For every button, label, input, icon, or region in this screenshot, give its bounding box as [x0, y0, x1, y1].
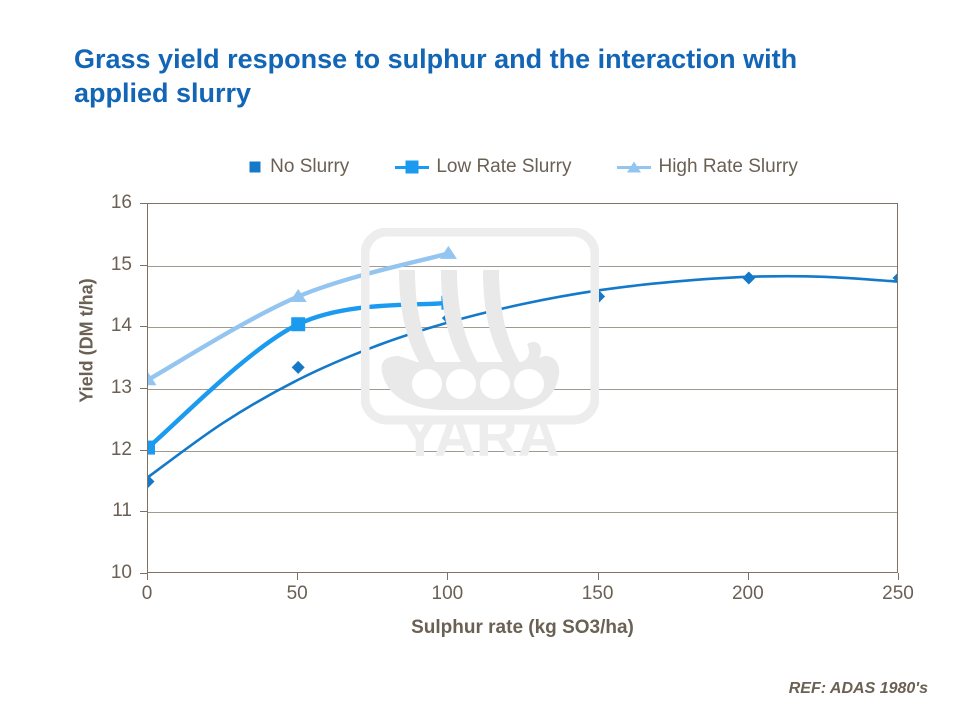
reference-note: REF: ADAS 1980's: [789, 680, 928, 698]
slide-canvas: Grass yield response to sulphur and the …: [0, 0, 960, 720]
x-tick-label: 50: [262, 584, 332, 603]
x-tick-mark: [598, 573, 599, 580]
y-tick-mark: [140, 203, 147, 204]
x-tick-label: 0: [112, 584, 182, 603]
legend-label-no-slurry: No Slurry: [270, 156, 349, 178]
diamond-marker-icon: [247, 159, 263, 175]
data-point-marker: [292, 361, 305, 374]
y-tick-mark: [140, 450, 147, 451]
triangle-marker-icon: [617, 159, 651, 175]
y-tick-mark: [140, 265, 147, 266]
plot-series-layer: [148, 204, 898, 573]
data-point-marker: [291, 317, 305, 331]
data-point-marker: [440, 246, 457, 259]
legend-item-high-rate-slurry[interactable]: High Rate Slurry: [617, 156, 797, 178]
series-line-high-rate-slurry: [148, 253, 448, 379]
series-line-no-slurry: [148, 276, 898, 477]
y-tick-mark: [140, 388, 147, 389]
y-axis-title: Yield (DM t/ha): [77, 241, 98, 441]
legend-item-low-rate-slurry[interactable]: Low Rate Slurry: [395, 156, 571, 178]
legend-label-low-rate-slurry: Low Rate Slurry: [436, 156, 571, 178]
x-tick-label: 250: [863, 584, 933, 603]
x-tick-label: 100: [412, 584, 482, 603]
x-tick-mark: [447, 573, 448, 580]
y-tick-label: 10: [90, 563, 132, 582]
square-marker-icon: [395, 159, 429, 175]
y-tick-mark: [140, 573, 147, 574]
x-tick-mark: [748, 573, 749, 580]
data-point-marker: [148, 475, 155, 488]
x-tick-label: 150: [563, 584, 633, 603]
x-tick-mark: [898, 573, 899, 580]
x-tick-mark: [297, 573, 298, 580]
data-point-marker: [742, 272, 755, 285]
legend-label-high-rate-slurry: High Rate Slurry: [658, 156, 797, 178]
x-tick-label: 200: [713, 584, 783, 603]
x-axis-title: Sulphur rate (kg SO3/ha): [147, 617, 898, 639]
legend-item-no-slurry[interactable]: No Slurry: [247, 156, 349, 178]
y-tick-mark: [140, 511, 147, 512]
data-point-marker: [148, 441, 155, 455]
page-title: Grass yield response to sulphur and the …: [74, 42, 894, 110]
y-tick-label: 11: [90, 501, 132, 520]
data-point-marker: [441, 296, 455, 310]
x-tick-mark: [147, 573, 148, 580]
y-tick-label: 16: [90, 193, 132, 212]
y-tick-label: 12: [90, 440, 132, 459]
y-tick-mark: [140, 326, 147, 327]
chart-legend: No Slurry Low Rate Slurry High Rate Slur…: [147, 152, 898, 182]
plot-area: [147, 203, 898, 573]
